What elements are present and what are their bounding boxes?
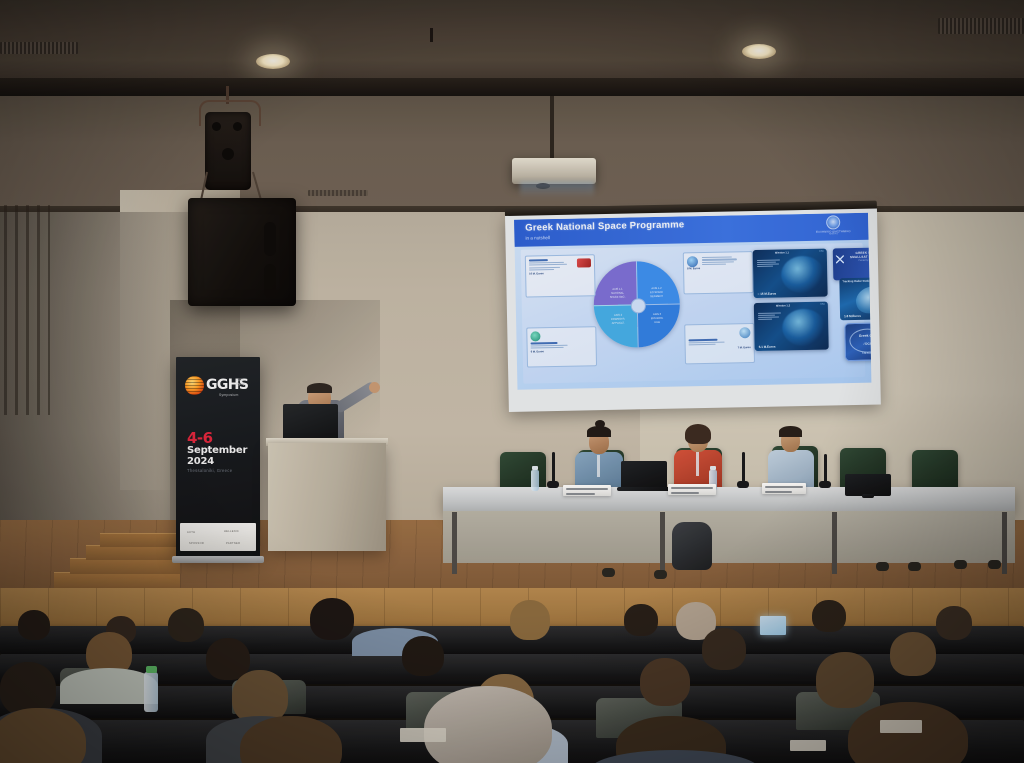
desk-leg-2	[660, 512, 665, 574]
soffit-vent	[308, 190, 368, 196]
audience-head-far-1	[18, 610, 50, 640]
audience-laptop-screen	[760, 616, 786, 635]
bottle-cap-2	[710, 466, 716, 470]
audience-head-fg-3	[424, 686, 552, 763]
audience-bottle-cap	[146, 666, 157, 673]
gghs-globe-logo-icon	[185, 376, 204, 395]
ceiling-hook	[430, 28, 433, 42]
audience-water-bottle[interactable]	[144, 672, 158, 712]
banner-logo-small-2: Symp.	[236, 382, 246, 386]
earth-observation-icon	[687, 256, 698, 267]
callout-budget-3: 6 M. Euros	[531, 349, 593, 353]
programme-axes-donut-chart: AXIS 1.1NATIONALSPACE SEG. AXIS 1.2EO SP…	[593, 261, 681, 349]
esa-badge-1: ESA	[819, 251, 823, 253]
name-placard-1	[563, 485, 611, 496]
ceiling	[0, 0, 1024, 86]
name-placard-3	[762, 483, 806, 494]
stage-step-2	[70, 558, 180, 574]
desk-castor-5	[954, 560, 967, 569]
sponsor-logo-4: PARTNER	[226, 542, 240, 545]
smallsat-programme-card: GREEK NATIONALSMALLSAT PROGRAMME Funded …	[833, 247, 872, 280]
panelist-2-hair	[685, 424, 711, 444]
projector-beam	[520, 182, 594, 198]
desk-castor-3	[876, 562, 889, 571]
table-mic-3	[824, 454, 827, 484]
panelist-2-lanyard	[696, 452, 699, 476]
desk-castor-2	[654, 570, 667, 579]
donut-quadrant-label-3: AXIS 2DOWNSTR.APPLICAT.	[603, 313, 633, 325]
sponsor-logo-3: SPONSOR	[189, 542, 204, 545]
smallsat-title: GREEK NATIONALSMALLSAT PROGRAMME	[844, 250, 872, 259]
esa-badge-2: ESA	[820, 304, 824, 306]
table-mic-base-2	[737, 481, 749, 488]
backpack-under-desk	[672, 522, 712, 570]
projected-slide: Greek National Space Programme in a nuts…	[514, 213, 871, 390]
radar-dish-image	[852, 283, 871, 317]
panel-monitor-right-stand	[862, 494, 874, 498]
panelist-1-lanyard	[597, 455, 600, 477]
banner-month: September	[187, 445, 247, 456]
callout-budget-2: 8 M. Euros	[687, 266, 749, 270]
mission-card-2-title: Mission 1.2	[776, 304, 790, 307]
audience-notepad-1[interactable]	[400, 728, 446, 742]
audience-head-far-3	[168, 608, 204, 642]
obs-title: Greek Obs	[845, 333, 871, 338]
audience-head-mid-4	[702, 628, 746, 670]
hvac-vent-right	[938, 18, 1024, 34]
sponsor-logo-2: HELLENIC	[224, 530, 239, 533]
lecture-hall-photo: Greek National Space Programme in a nuts…	[0, 0, 1024, 763]
donut-divider-horizontal	[594, 304, 680, 307]
panelist-3-hair	[779, 426, 802, 437]
slide-subtitle: in a nutshell	[525, 235, 550, 240]
banner-year: 2024	[187, 456, 214, 467]
stage-step-1	[54, 572, 180, 588]
mission-card-2-budget: 6.1 M.Euros	[759, 345, 776, 349]
callout-top-left: 10 M. Euros	[525, 254, 596, 297]
logo-circle-icon	[826, 215, 840, 229]
audience-head-far-4	[310, 598, 354, 640]
tracking-radar-card: Tracking Radar Station 1.8 M.Euros	[839, 277, 871, 320]
desk-leg-4	[1002, 512, 1007, 574]
obs-budget: 5 M.Euros	[846, 351, 872, 355]
radar-budget: 1.8 M.Euros	[844, 314, 861, 318]
sponsor-logo-1: AUTH	[187, 531, 195, 534]
mission-card-1: Mission 1.1 ESA ~ 15 M.Euros	[753, 249, 828, 298]
table-mic-1	[552, 452, 555, 484]
audience-area	[0, 588, 1024, 763]
panel-table-top	[443, 487, 1015, 513]
name-placard-2	[668, 484, 716, 495]
donut-divider-vertical	[636, 261, 639, 347]
pa-speaker-cabinet	[188, 198, 296, 306]
speaker-podium	[268, 443, 386, 551]
banner-base-stand	[172, 556, 264, 563]
presenter-hair	[307, 383, 332, 393]
satellite-render-2	[782, 308, 826, 346]
slide-body: AXIS 1.1NATIONALSPACE SEG. AXIS 1.2EO SP…	[521, 243, 866, 384]
donut-quadrant-label-4: AXIS 3ENVIRON.HUB	[642, 313, 672, 325]
callout-bottom-right: 7 M. Euros	[684, 323, 755, 364]
projection-screen: Greek National Space Programme in a nuts…	[505, 209, 881, 412]
callout-budget-1: 10 M. Euros	[529, 271, 591, 275]
satellite-icon	[577, 258, 591, 267]
desk-castor-6	[988, 560, 1001, 569]
mission-card-2: Mission 1.2 ESA 6.1 M.Euros	[754, 302, 829, 351]
audience-paper-3[interactable]	[790, 740, 826, 751]
banner-subtitle: Symposium	[219, 393, 239, 397]
greek-obs-dcs-card: Greek Obs / DCS 5 M.Euros	[844, 322, 871, 361]
panel-table-front	[443, 511, 1015, 563]
banner-logo-small-1: 2024	[236, 378, 244, 382]
panelist-1-bun-knot	[595, 420, 605, 428]
antenna-icon	[530, 331, 540, 341]
radar-title: Tracking Radar Station	[842, 280, 871, 284]
stage-step-3	[86, 545, 180, 560]
screen-surface: Greek National Space Programme in a nuts…	[505, 209, 881, 412]
hvac-vent-left	[0, 42, 78, 54]
water-bottle-desk-1	[531, 470, 539, 491]
stage-step-4	[100, 533, 180, 547]
presenter-hand	[369, 382, 380, 393]
desk-leg-3	[832, 512, 837, 574]
panel-monitor-right	[845, 474, 891, 496]
panel-laptop-1	[621, 461, 667, 489]
hellenic-space-center-logo: ΕΛΛΗΝΙΚΟ ΔΙΑΣΤΗΜΙΚΟ ΚΕΝΤΡΟ	[805, 215, 861, 239]
mission-card-1-budget: ~ 15 M.Euros	[758, 292, 777, 296]
audience-head-mid-3	[402, 636, 444, 676]
audience-head-near-4	[640, 658, 690, 706]
ceiling-downlight-2	[742, 44, 776, 59]
mission-card-1-title: Mission 1.1	[775, 251, 789, 254]
audience-head-far-6	[624, 604, 658, 636]
audience-notepad-2[interactable]	[880, 720, 922, 733]
table-mic-base-3	[819, 481, 831, 488]
audience-head-near-5	[816, 652, 874, 708]
ceiling-projector	[512, 158, 596, 184]
desk-castor-4	[908, 562, 921, 571]
donut-quadrant-label-1: AXIS 1.1NATIONALSPACE SEG.	[602, 287, 632, 299]
table-mic-base-1	[547, 481, 559, 488]
desk-leg-1	[452, 512, 457, 574]
stage-spotlight	[205, 112, 251, 190]
callout-budget-4: 7 M. Euros	[689, 346, 751, 350]
panel-laptop-1-base	[617, 487, 671, 491]
conference-roll-up-banner: GGHS 2024 Symp. Symposium 4-6 September …	[176, 357, 260, 557]
table-mic-2	[742, 452, 745, 484]
audience-head-far-8	[812, 600, 846, 632]
cloud-data-icon	[739, 327, 750, 338]
donut-quadrant-label-2: AXIS 1.2EO SPACESEGMENT	[641, 287, 671, 299]
projector-mount-pole	[550, 96, 554, 160]
audience-head-far-5	[510, 600, 550, 640]
logo-line-2: ΚΕΝΤΡΟ	[805, 233, 861, 236]
banner-location: Thessaloniki, Greece	[187, 468, 232, 473]
audience-head-far-9	[936, 606, 972, 640]
satellite-render-1	[781, 255, 825, 293]
obs-subtitle: / DCS	[846, 341, 872, 346]
banner-sponsor-strip: AUTH HELLENIC SPONSOR PARTNER	[180, 523, 256, 551]
ceiling-downlight-1	[256, 54, 290, 69]
podium-laptop	[283, 404, 338, 440]
satellite-cross-icon	[836, 255, 844, 263]
callout-top-right: 8 M. Euros	[683, 251, 754, 294]
banner-logo-small: 2024 Symp.	[236, 378, 246, 387]
desk-castor-1	[602, 568, 615, 577]
audience-head-mid-5	[890, 632, 936, 676]
callout-bottom-left: 6 M. Euros	[526, 326, 597, 367]
obs-ring-decoration	[849, 328, 871, 353]
bottle-cap-1	[532, 466, 538, 470]
